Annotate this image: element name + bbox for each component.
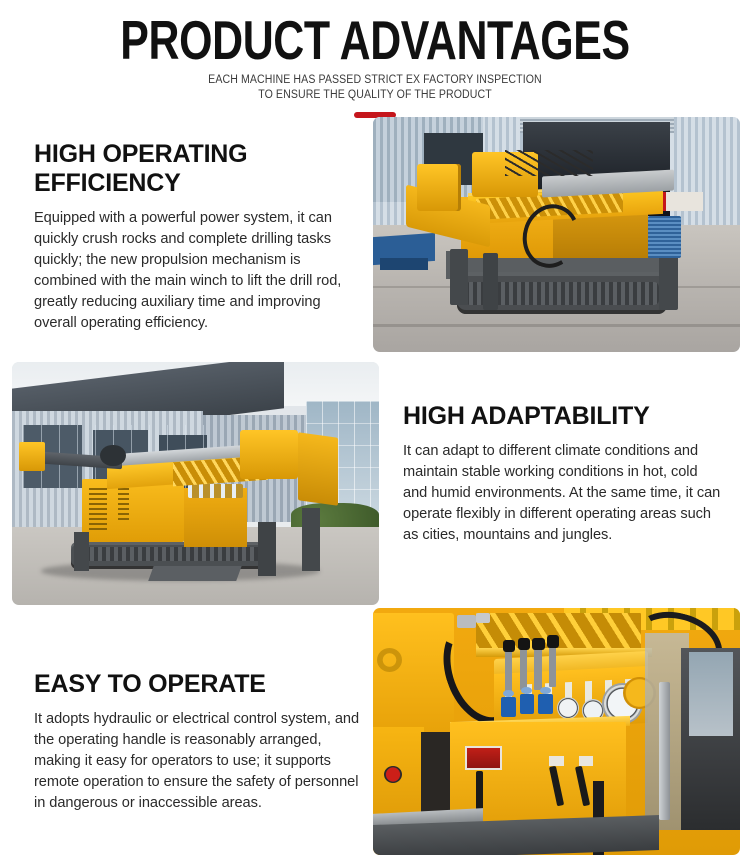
control-lever-knob-3[interactable] [532,638,544,650]
control-lever-knob-4[interactable] [547,635,559,647]
section-2-body: It can adapt to different climate condit… [403,441,725,546]
outrigger-leg-rear [302,508,320,571]
section-1-body: Equipped with a powerful power system, i… [34,208,364,334]
outrigger-leg-mid [258,522,276,575]
engine-vent-grill [89,488,107,532]
crawler-track-pattern [78,547,262,562]
radiator-panel [648,216,681,258]
page-subtitle: EACH MACHINE HAS PASSED STRICT EX FACTOR… [30,73,720,103]
control-lever-1[interactable] [505,645,512,692]
blue-valve-3[interactable] [538,694,553,714]
rotary-joint [100,445,126,467]
background-glass [689,652,733,736]
operating-handle-1[interactable] [476,771,483,811]
outrigger-leg-front [450,249,468,305]
section-3-heading: EASY TO OPERATE [34,670,364,699]
rear-mast-bracket [298,432,338,506]
section-high-adaptability: HIGH ADAPTABILITY It can adapt to differ… [403,402,725,546]
hydraulic-lines [505,150,593,176]
photo-drilling-rig-at-warehouse [373,117,740,352]
page-header: PRODUCT ADVANTAGES EACH MACHINE HAS PASS… [0,0,750,118]
boom-head-plate [19,442,45,471]
vertical-pipe [659,682,670,820]
section-2-heading: HIGH ADAPTABILITY [403,402,725,431]
left-yellow-tank [373,613,454,741]
control-lever-knob-1[interactable] [503,640,515,652]
blue-valve-cap-1[interactable] [503,690,514,697]
ground-seam-2 [373,324,740,327]
red-warning-label [465,746,502,770]
handle-tag-1 [549,756,564,766]
section-easy-to-operate: EASY TO OPERATE It adopts hydraulic or e… [34,670,364,814]
rig-mast-head [417,164,461,211]
engine-vent-grill-2 [118,488,129,522]
hose-connector-1 [457,615,475,627]
outrigger-leg-front [74,532,89,571]
section-1-heading: HIGH OPERATING EFFICIENCY [34,140,364,198]
subtitle-line-1: EACH MACHINE HAS PASSED STRICT EX FACTOR… [30,73,720,88]
control-lever-knob-2[interactable] [518,638,530,650]
handle-tag-2 [579,756,594,766]
subtitle-line-2: TO ENSURE THE QUALITY OF THE PRODUCT [30,88,720,103]
blue-valve-2[interactable] [520,694,535,714]
section-high-operating-efficiency: HIGH OPERATING EFFICIENCY Equipped with … [34,140,364,334]
blue-trailer-frame [380,258,428,270]
rotary-head-housing [240,430,299,479]
outrigger-leg-mid [483,253,498,309]
page-title: PRODUCT ADVANTAGES [83,13,668,68]
hose-connector-2 [476,613,491,623]
blue-valve-1[interactable] [501,697,516,717]
warning-decal [663,192,703,211]
pressure-gauge-small-1 [557,697,579,719]
photo-drilling-rig-at-factory [12,362,379,605]
section-3-body: It adopts hydraulic or electrical contro… [34,709,364,814]
photo-control-panel-closeup [373,608,740,855]
control-panel-gauges [188,484,243,499]
ground-support-plate [149,566,242,581]
